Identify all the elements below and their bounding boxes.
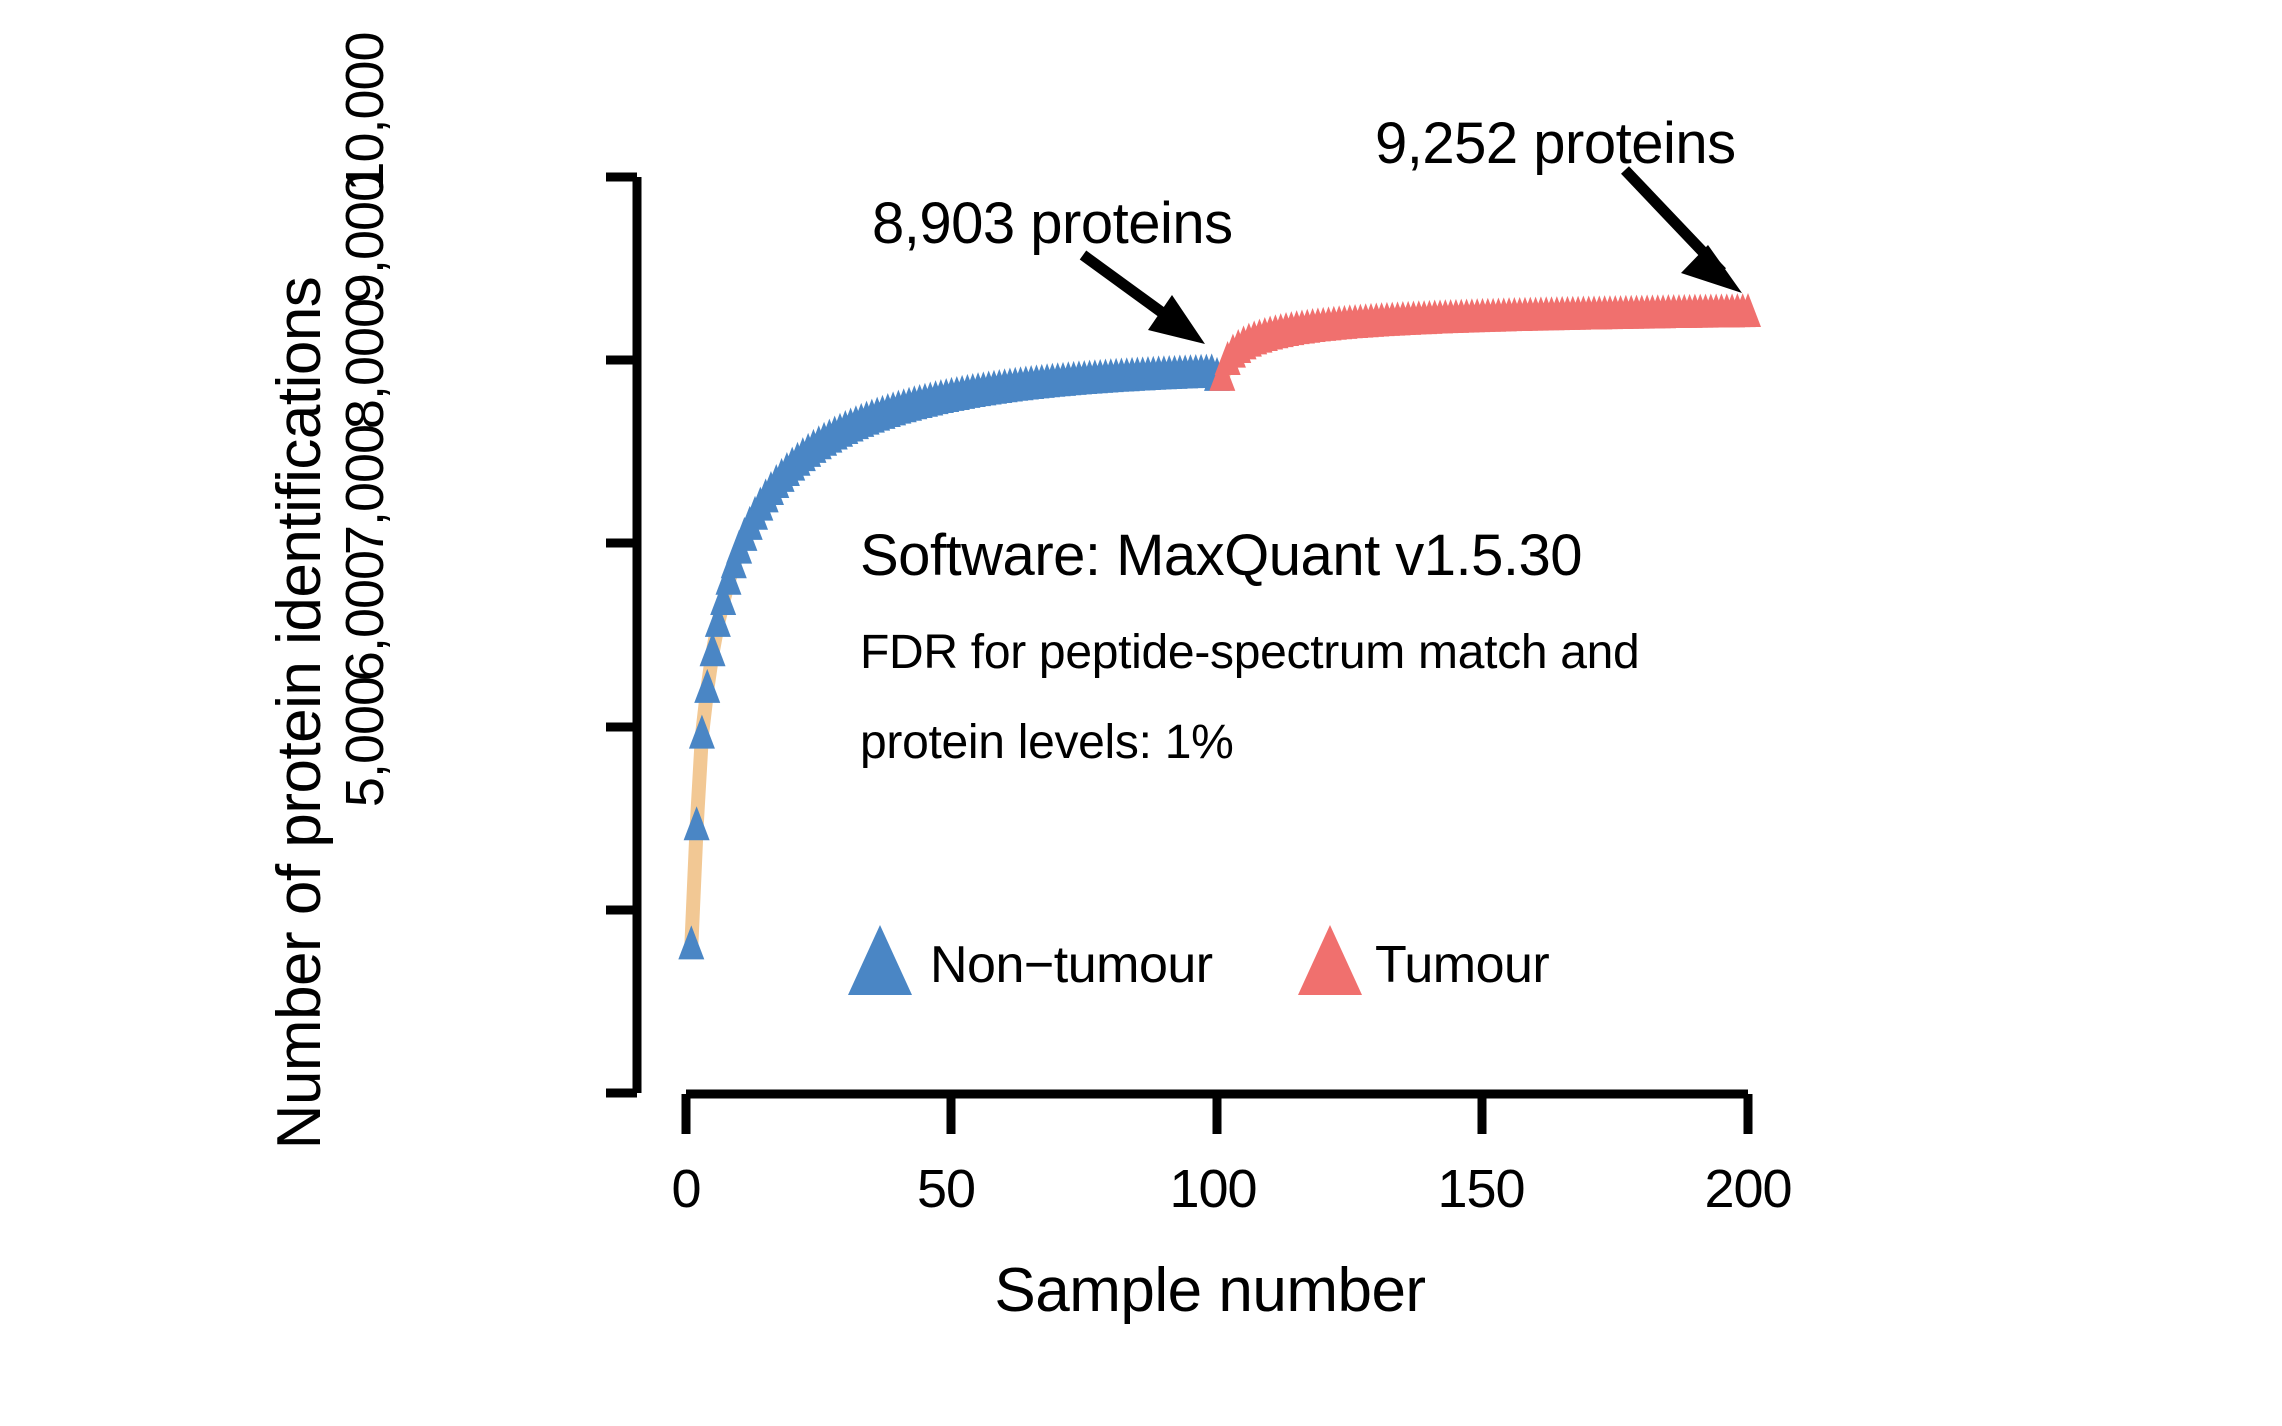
protein-identification-chart: Number of protein identifications 5,000 … (0, 0, 2282, 1426)
series-connector-line (691, 314, 1748, 946)
data-marker (684, 806, 710, 840)
data-marker (689, 715, 715, 749)
data-marker (678, 925, 704, 959)
legend-marker-tumour (1298, 925, 1362, 995)
annotation-arrow-tumour (1625, 170, 1742, 293)
y-axis (606, 177, 637, 1093)
legend-marker-non-tumour (848, 925, 912, 995)
x-axis (686, 1094, 1748, 1134)
series-markers-non-tumour (678, 353, 1230, 959)
plot-canvas (0, 0, 2282, 1426)
series-markers-tumour (1209, 293, 1761, 391)
annotation-arrow-non-tumour (1083, 255, 1205, 344)
